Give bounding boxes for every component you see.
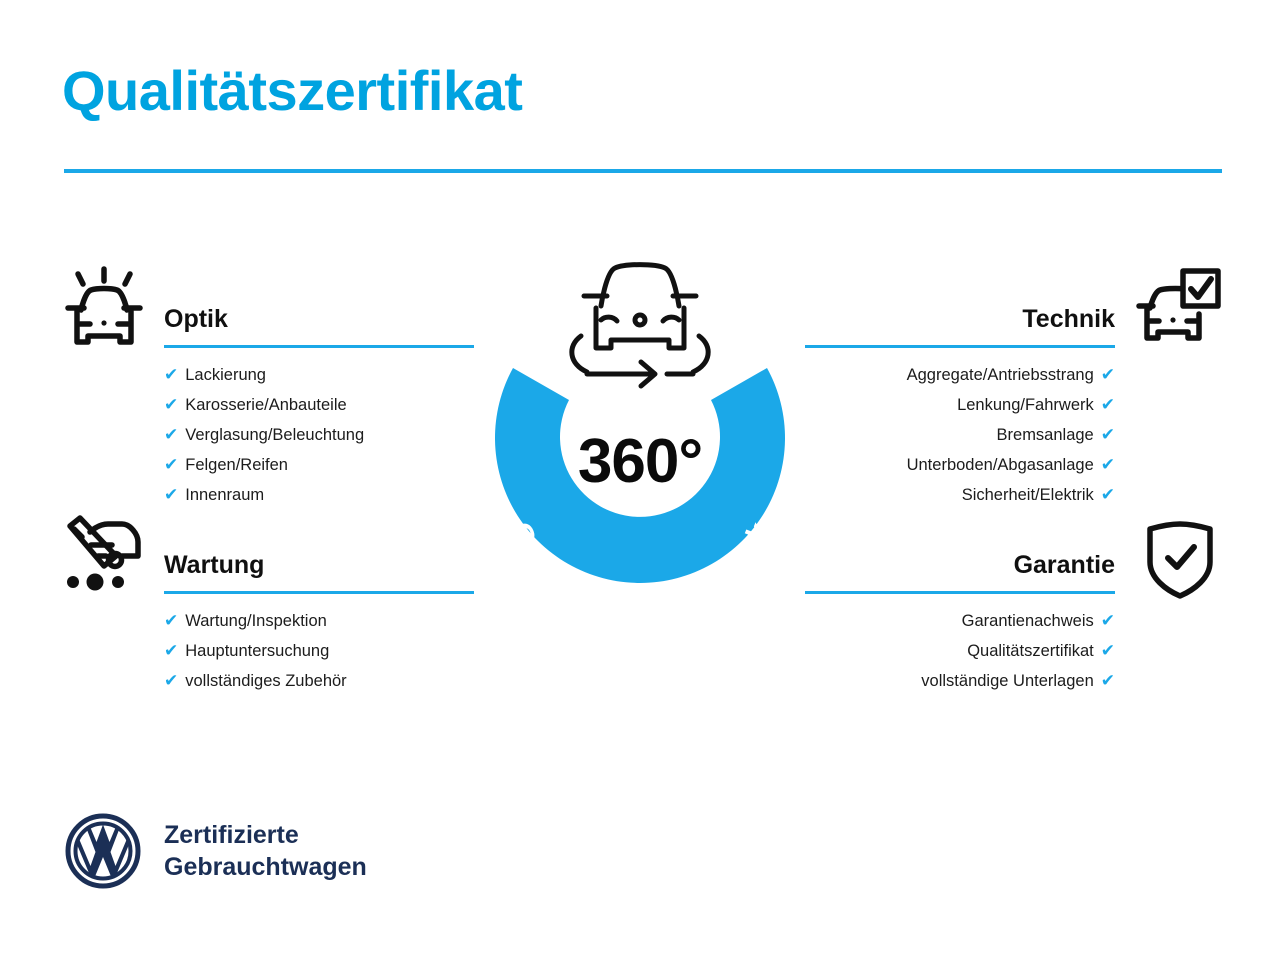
list-item-label: Verglasung/Beleuchtung: [185, 420, 364, 450]
section-optik-head: Optik: [164, 302, 474, 348]
car-rotate-icon: [572, 265, 708, 386]
list-item-label: Unterboden/Abgasanlage: [907, 450, 1094, 480]
header-divider: [64, 169, 1222, 173]
list-item: Unterboden/Abgasanlage✔: [907, 450, 1115, 480]
car-checkbox-icon: [1136, 266, 1222, 357]
section-technik-underline: [805, 345, 1115, 348]
list-item-label: Innenraum: [185, 480, 264, 510]
section-garantie-head: Garantie: [800, 548, 1115, 594]
check-icon: ✔: [1101, 606, 1115, 636]
check-icon: ✔: [164, 420, 178, 450]
section-wartung-list: ✔Wartung/Inspektion ✔Hauptuntersuchung ✔…: [164, 606, 474, 696]
list-item: ✔vollständiges Zubehör: [164, 666, 474, 696]
check-icon: ✔: [1101, 480, 1115, 510]
check-icon: ✔: [164, 390, 178, 420]
list-item-label: vollständiges Zubehör: [185, 666, 346, 696]
check-icon: ✔: [164, 480, 178, 510]
list-item-label: Aggregate/Antriebsstrang: [907, 360, 1094, 390]
check-icon: ✔: [164, 606, 178, 636]
vw-logo: [64, 812, 142, 890]
section-technik-title: Technik: [800, 302, 1115, 336]
list-item-label: vollständige Unterlagen: [921, 666, 1093, 696]
section-technik-head: Technik: [800, 302, 1115, 348]
list-item-label: Qualitätszertifikat: [967, 636, 1094, 666]
section-optik-list: ✔Lackierung ✔Karosserie/Anbauteile ✔Verg…: [164, 360, 474, 510]
list-item-label: Bremsanlage: [997, 420, 1094, 450]
list-item: ✔Verglasung/Beleuchtung: [164, 420, 474, 450]
check-icon: ✔: [1101, 666, 1115, 696]
list-item-label: Wartung/Inspektion: [185, 606, 327, 636]
list-item: Garantienachweis✔: [962, 606, 1115, 636]
service-book-icon: [60, 512, 148, 597]
list-item: ✔Innenraum: [164, 480, 474, 510]
footer-logo-line2: Gebrauchtwagen: [164, 851, 367, 883]
list-item-label: Garantienachweis: [962, 606, 1094, 636]
check-icon: ✔: [1101, 390, 1115, 420]
section-wartung-title: Wartung: [164, 548, 474, 582]
list-item: Bremsanlage✔: [997, 420, 1115, 450]
list-item: vollständige Unterlagen✔: [921, 666, 1115, 696]
section-garantie-list: Garantienachweis✔ Qualitätszertifikat✔ v…: [800, 606, 1115, 696]
check-icon: ✔: [164, 450, 178, 480]
check-icon: ✔: [1101, 360, 1115, 390]
list-item-label: Sicherheit/Elektrik: [962, 480, 1094, 510]
footer-logo: Zertifizierte Gebrauchtwagen: [64, 812, 367, 890]
list-item-label: Lenkung/Fahrwerk: [957, 390, 1094, 420]
360-check-badge: Gebrauchtwagen-Check 360°: [455, 248, 825, 628]
section-optik-title: Optik: [164, 302, 474, 336]
list-item-label: Lackierung: [185, 360, 266, 390]
check-icon: ✔: [164, 360, 178, 390]
page-title: Qualitätszertifikat: [62, 60, 522, 122]
list-item: Sicherheit/Elektrik✔: [962, 480, 1115, 510]
section-optik: Optik ✔Lackierung ✔Karosserie/Anbauteile…: [164, 302, 474, 510]
list-item-label: Hauptuntersuchung: [185, 636, 329, 666]
list-item-label: Felgen/Reifen: [185, 450, 288, 480]
section-technik: Technik Aggregate/Antriebsstrang✔ Lenkun…: [800, 302, 1115, 510]
list-item-label: Karosserie/Anbauteile: [185, 390, 346, 420]
section-wartung-underline: [164, 591, 474, 594]
car-shine-icon: [60, 262, 148, 359]
footer-logo-text: Zertifizierte Gebrauchtwagen: [164, 819, 367, 883]
list-item: ✔Karosserie/Anbauteile: [164, 390, 474, 420]
list-item: ✔Lackierung: [164, 360, 474, 390]
footer-logo-line1: Zertifizierte: [164, 819, 367, 851]
list-item: ✔Hauptuntersuchung: [164, 636, 474, 666]
section-optik-underline: [164, 345, 474, 348]
section-garantie-title: Garantie: [800, 548, 1115, 582]
check-icon: ✔: [164, 636, 178, 666]
section-technik-list: Aggregate/Antriebsstrang✔ Lenkung/Fahrwe…: [800, 360, 1115, 510]
list-item: Aggregate/Antriebsstrang✔: [907, 360, 1115, 390]
list-item: Lenkung/Fahrwerk✔: [957, 390, 1115, 420]
section-garantie-underline: [805, 591, 1115, 594]
list-item: Qualitätszertifikat✔: [967, 636, 1115, 666]
badge-center-value: 360°: [455, 426, 825, 497]
list-item: ✔Wartung/Inspektion: [164, 606, 474, 636]
check-icon: ✔: [1101, 450, 1115, 480]
shield-check-icon: [1143, 520, 1217, 605]
check-icon: ✔: [164, 666, 178, 696]
list-item: ✔Felgen/Reifen: [164, 450, 474, 480]
check-icon: ✔: [1101, 636, 1115, 666]
section-garantie: Garantie Garantienachweis✔ Qualitätszert…: [800, 548, 1115, 696]
section-wartung: Wartung ✔Wartung/Inspektion ✔Hauptunters…: [164, 548, 474, 696]
check-icon: ✔: [1101, 420, 1115, 450]
section-wartung-head: Wartung: [164, 548, 474, 594]
